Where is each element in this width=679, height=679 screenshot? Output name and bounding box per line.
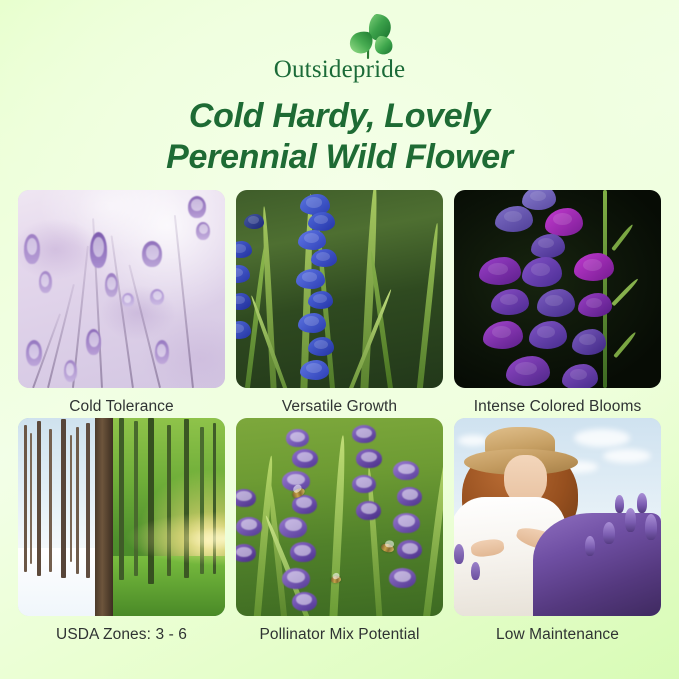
page-title-line-1: Cold Hardy, Lovely [0, 96, 679, 137]
purple-bloom-closeup-illustration [454, 190, 661, 388]
bee-icon [380, 543, 395, 554]
page-title: Cold Hardy, Lovely Perennial Wild Flower [0, 96, 679, 178]
feature-image-cold-tolerance [18, 190, 225, 388]
feature-caption-usda-zones: USDA Zones: 3 - 6 [18, 616, 225, 643]
feature-grid: Cold Tolerance [18, 190, 661, 642]
feature-caption-versatile-growth: Versatile Growth [236, 388, 443, 415]
blue-penstemon-illustration [236, 190, 443, 388]
feature-caption-intense-colored-blooms: Intense Colored Blooms [454, 388, 661, 415]
feature-image-low-maintenance [454, 418, 661, 616]
brand-logo: Outsidepride [0, 8, 679, 82]
lavender-harvest-illustration [454, 418, 661, 616]
feature-image-usda-zones [18, 418, 225, 616]
feature-cell-cold-tolerance: Cold Tolerance [18, 190, 225, 415]
frosty-lavender-illustration [18, 190, 225, 388]
page-title-line-2: Perennial Wild Flower [0, 137, 679, 178]
header: Outsidepride Cold Hardy, Lovely Perennia… [0, 0, 679, 178]
feature-image-versatile-growth [236, 190, 443, 388]
feature-cell-versatile-growth: Versatile Growth [236, 190, 443, 415]
bee-pollinator-illustration [236, 418, 443, 616]
feature-cell-usda-zones: USDA Zones: 3 - 6 [18, 418, 225, 643]
feature-caption-cold-tolerance: Cold Tolerance [18, 388, 225, 415]
feature-caption-low-maintenance: Low Maintenance [454, 616, 661, 643]
feature-cell-intense-colored-blooms: Intense Colored Blooms [454, 190, 661, 415]
feature-cell-pollinator-mix-potential: Pollinator Mix Potential [236, 418, 443, 643]
feature-image-pollinator-mix-potential [236, 418, 443, 616]
feature-cell-low-maintenance: Low Maintenance [454, 418, 661, 643]
brand-name: Outsidepride [0, 57, 679, 82]
product-infographic: Outsidepride Cold Hardy, Lovely Perennia… [0, 0, 679, 679]
feature-caption-pollinator-mix-potential: Pollinator Mix Potential [236, 616, 443, 643]
feature-image-intense-colored-blooms [454, 190, 661, 388]
bee-icon [331, 575, 342, 583]
winter-summer-forest-illustration [18, 418, 225, 616]
